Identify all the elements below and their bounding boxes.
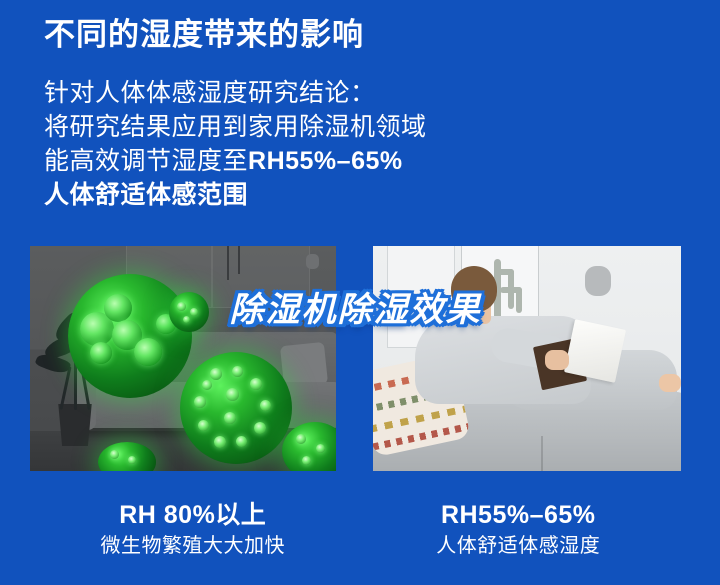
wall-speaker-icon: [585, 266, 611, 296]
caption-high-humidity: RH 80%以上 微生物繁殖大大加快: [30, 500, 356, 560]
pendant-cord-icon: [238, 246, 240, 274]
microbe-dot: [128, 456, 136, 464]
person-foot: [659, 374, 681, 392]
pendant-cord-icon: [227, 246, 229, 280]
microbe-cell: [90, 342, 112, 364]
bright-room-photo: [373, 246, 681, 471]
microbe-dot: [202, 380, 212, 390]
photo-panel-high-humidity: [30, 246, 336, 471]
humidity-range-emphasis: RH55%–65%: [248, 147, 403, 175]
caption-title: RH 80%以上: [30, 500, 356, 530]
plant-stem: [59, 366, 71, 410]
microbe-sphere-icon: [68, 274, 192, 398]
cactus-stem: [500, 287, 522, 293]
microbe-sphere-icon: [180, 352, 292, 464]
microbe-dot: [198, 420, 209, 431]
person-head: [451, 266, 497, 312]
caption-subtitle: 微生物繁殖大大加快: [30, 532, 356, 560]
page-title: 不同的湿度带来的影响: [44, 16, 364, 53]
intro-line-1: 针对人体体感湿度研究结论：: [44, 76, 427, 110]
caption-row: RH 80%以上 微生物繁殖大大加快 RH55%–65% 人体舒适体感湿度: [30, 500, 681, 560]
microbe-dot: [190, 308, 198, 316]
intro-line-4: 人体舒适体感范围: [44, 178, 427, 212]
plant-pot-icon: [56, 404, 94, 446]
microbe-dot: [226, 388, 239, 401]
intro-line-2: 将研究结果应用到家用除湿机领域: [44, 110, 427, 144]
caption-comfort-humidity: RH55%–65% 人体舒适体感湿度: [356, 500, 682, 560]
sofa-seam: [541, 436, 543, 471]
microbe-dot: [254, 422, 266, 434]
book-page: [564, 319, 626, 383]
microbe-dot: [183, 316, 190, 323]
person-hand: [545, 350, 569, 370]
microbe-dot: [250, 378, 262, 390]
microbe-dot: [194, 396, 206, 408]
caption-title: RH55%–65%: [356, 500, 682, 530]
intro-line-3-prefix: 能高效调节湿度至: [44, 147, 248, 175]
humidity-infographic-poster: 不同的湿度带来的影响 针对人体体感湿度研究结论： 将研究结果应用到家用除湿机领域…: [0, 0, 720, 585]
photo-panel-comfort-humidity: [373, 246, 681, 471]
intro-line-3: 能高效调节湿度至RH55%–65%: [44, 144, 427, 178]
microbe-cell: [104, 294, 132, 322]
dark-room-photo: [30, 246, 336, 471]
comparison-panels: 除湿机除湿效果: [30, 246, 681, 471]
microbe-dot: [260, 400, 271, 411]
caption-subtitle: 人体舒适体感湿度: [356, 532, 682, 560]
microbe-cell: [134, 338, 162, 366]
microbe-dot: [210, 368, 222, 380]
microbe-sphere-icon: [169, 292, 209, 332]
wall-knob-icon: [306, 254, 319, 269]
microbe-dot: [316, 444, 325, 453]
microbe-dot: [224, 412, 236, 424]
microbe-dot: [214, 436, 226, 448]
microbe-dot: [177, 302, 186, 311]
microbe-dot: [296, 434, 306, 444]
microbe-dot: [302, 456, 311, 465]
microbe-dot: [110, 450, 119, 459]
cactus-stem: [498, 269, 514, 275]
microbe-dot: [236, 436, 247, 447]
microbe-dot: [232, 366, 243, 377]
intro-text-block: 针对人体体感湿度研究结论： 将研究结果应用到家用除湿机领域 能高效调节湿度至RH…: [44, 76, 427, 212]
